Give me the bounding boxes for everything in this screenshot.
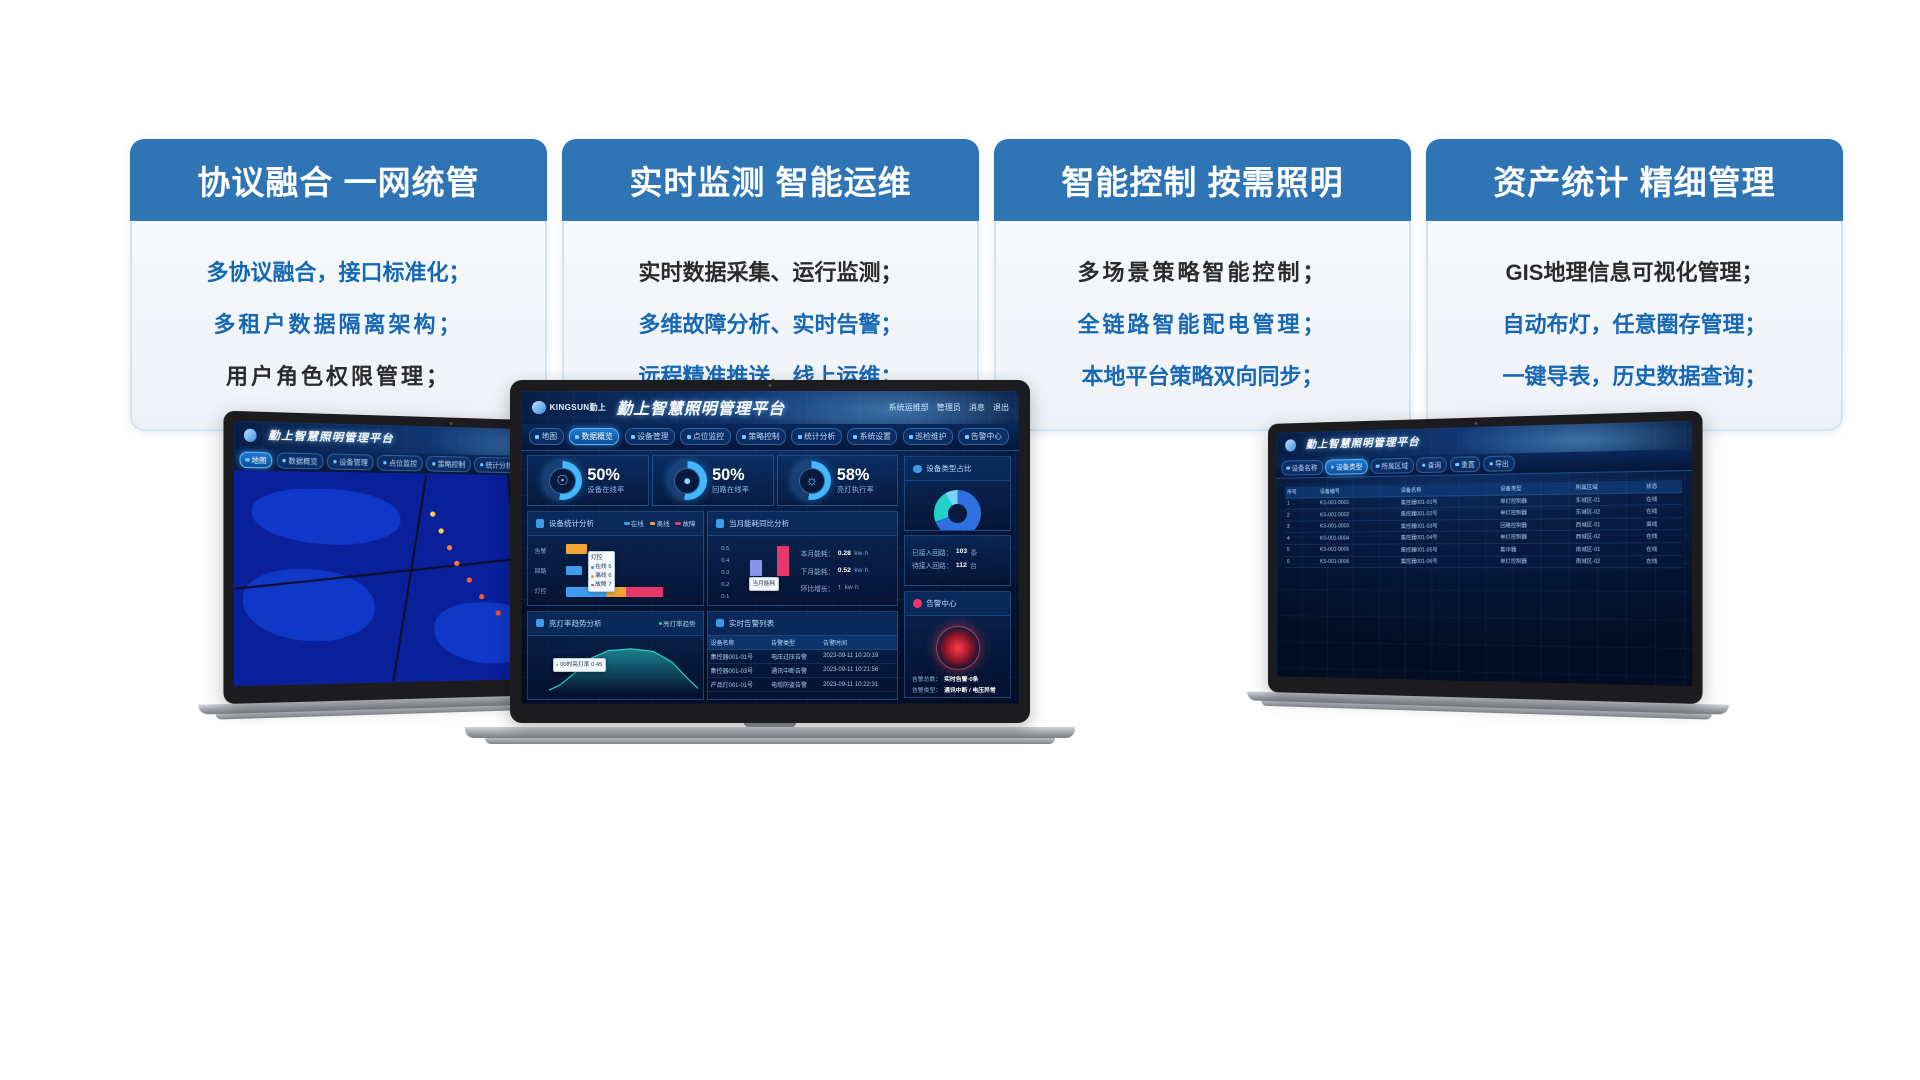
panel-trend-title: 亮灯率趋势分析	[549, 618, 602, 629]
cell: 2023-09-11 10:20:19	[821, 649, 898, 663]
donut-chart	[934, 490, 981, 530]
panel-alarm-center-body: 告警总数： 实时告警·0条 告警类型： 通讯中断 / 电压异常 处理状态：	[905, 616, 1010, 698]
tab-label-3: 点位监控	[693, 431, 724, 442]
chart-icon	[536, 519, 544, 527]
map-road-2	[392, 475, 427, 681]
laptop-right: 勤上智慧照明管理平台 设备名称 设备类型 所属区域 查询 重置 导出	[1268, 411, 1703, 720]
kpi-2-value: 58%	[837, 467, 874, 485]
alarm-value: 待处理	[944, 695, 962, 698]
middle-panels: 设备统计分析 在线 离线 故障	[521, 506, 904, 610]
chart-icon	[575, 435, 579, 439]
kpi-2-text: 58% 亮灯执行率	[837, 467, 874, 495]
kpi-0-value: 50%	[587, 467, 624, 485]
panel-device-stats-header: 设备统计分析 在线 离线 故障	[528, 512, 703, 536]
legend-label: 亮灯率趋势	[663, 618, 696, 628]
asset-nav-5[interactable]: 导出	[1483, 455, 1514, 472]
dashboard-navbar[interactable]: 地图 数据概览 设备管理 点位监控 策略控制 统计分析 系统设置 巡检维护 告警…	[521, 424, 1019, 451]
map-icon	[246, 458, 250, 462]
feature-card-1-title: 协议融合 一网统管	[197, 156, 479, 204]
cell: 产品灯001-01号	[708, 678, 769, 692]
topbar-actions[interactable]: 系统运维部 管理员 消息 退出	[888, 402, 1009, 413]
alarm-value: 实时告警·0条	[944, 674, 978, 683]
brand-logo: 勤上智慧照明管理平台	[244, 429, 257, 442]
energy-value: ↑	[838, 584, 841, 591]
laptop-center-foot	[485, 738, 1055, 744]
tab-label-7: 巡检维护	[915, 431, 946, 442]
asset-dashboard: 勤上智慧照明管理平台 设备名称 设备类型 所属区域 查询 重置 导出	[1277, 421, 1693, 687]
panel-alarm-table-body: 设备名称 告警类型 告警时间 集控器001-01号	[708, 636, 897, 699]
table-row[interactable]: 集控器001-01号 电压过压告警 2023-09-11 10:20:19	[708, 649, 897, 663]
panel-device-stats-legend: 在线 离线 故障	[624, 518, 696, 528]
feature-card-3-header: 智能控制 按需照明	[994, 139, 1411, 221]
kpi-0-text: 50% 设备在线率	[587, 467, 624, 495]
tab-label-8: 告警中心	[971, 431, 1002, 442]
legend-swatch	[650, 522, 656, 525]
gear-icon	[853, 435, 857, 439]
table-row[interactable]: 集控器001-03号 通讯中断告警 2023-09-11 10:21:56	[708, 663, 897, 677]
asset-nav-3[interactable]: 查询	[1417, 457, 1447, 474]
axis-tick: 0.1	[721, 593, 729, 601]
tooltip-label: 在线	[595, 563, 606, 572]
kpi-1-text: 50% 回路在线率	[712, 467, 749, 495]
energy-value: 0.52	[838, 567, 851, 574]
tooltip-row: 离线6	[591, 572, 612, 581]
panel-energy-body: 0.5 0.4 0.3 0.2 0.1	[708, 536, 897, 605]
cell: 电压过压告警	[769, 649, 821, 663]
feature-card-4-line-1: GIS地理信息可视化管理；	[1428, 247, 1841, 299]
energy-stats: 本月能耗： 0.28 kw·h 下月能耗： 0.52 kw·h	[801, 542, 891, 598]
energy-unit: kw·h	[854, 550, 868, 557]
kingsun-logo-icon	[244, 429, 257, 442]
asset-nav-label-2: 所属区域	[1381, 460, 1408, 471]
alarm-row: 告警总数： 实时告警·0条	[912, 674, 1004, 683]
location-icon: ●	[668, 461, 707, 500]
tooltip-row: 在线6	[591, 563, 612, 572]
map-icon	[1287, 466, 1290, 469]
feature-card-1-line-1: 多协议融合，接口标准化；	[132, 247, 545, 299]
panel-device-type: 设备类型占比 单灯 回路 集中器	[904, 456, 1011, 530]
laptop-center-screen: KINGSUN勤上 勤上智慧照明管理平台 系统运维部 管理员 消息 退出 地图	[521, 391, 1019, 704]
gis-nav-map[interactable]: 地图	[239, 451, 273, 469]
cell: 电缆防盗告警	[769, 678, 821, 692]
gis-nav-monitor[interactable]: 点位监控	[377, 454, 423, 472]
bell-icon	[965, 435, 969, 439]
gis-nav-label-5: 统计分析	[486, 460, 513, 471]
area-icon	[1376, 464, 1379, 467]
alarm-table[interactable]: 设备名称 告警类型 告警时间 集控器001-01号	[708, 636, 897, 693]
laptop-right-screen: 勤上智慧照明管理平台 设备名称 设备类型 所属区域 查询 重置 导出	[1277, 421, 1693, 687]
energy-chart: 0.5 0.4 0.3 0.2 0.1	[715, 542, 801, 598]
panel-energy: 当月能耗同比分析 0.5 0.4 0.3 0	[707, 511, 898, 606]
panel-loop-stats-body: 已接入回路： 103 条 待接入回路： 112 台	[905, 536, 1010, 585]
energy-unit: kw·h	[845, 584, 859, 591]
device-icon	[631, 435, 635, 439]
legend-swatch	[624, 522, 630, 525]
kpi-2-label: 亮灯执行率	[837, 485, 874, 495]
panel-alarm-table-header: 实时告警列表	[708, 612, 897, 636]
asset-nav-2[interactable]: 所属区域	[1371, 457, 1414, 474]
energy-row: 下月能耗： 0.52 kw·h	[801, 566, 891, 576]
tooltip-title: 灯控	[591, 554, 612, 563]
webcam-icon	[769, 384, 772, 387]
axis-tick: 告警	[535, 546, 547, 554]
energy-key: 环比增长：	[801, 583, 835, 593]
feature-card-2-header: 实时监测 智能运维	[562, 139, 979, 221]
tooltip-title: 当月能耗	[752, 580, 775, 589]
panel-energy-title: 当月能耗同比分析	[729, 518, 789, 529]
tooltip-label: 故障	[595, 581, 606, 590]
panel-device-stats-title: 设备统计分析	[549, 518, 594, 529]
panel-trend-body: 00时亮灯率0.45	[528, 636, 703, 699]
energy-row: 环比增长： ↑ kw·h	[801, 583, 891, 593]
main-dashboard: KINGSUN勤上 勤上智慧照明管理平台 系统运维部 管理员 消息 退出 地图	[521, 391, 1019, 704]
play-icon	[432, 462, 435, 466]
tooltip-value: 6	[608, 572, 611, 581]
map-pin[interactable]	[438, 528, 443, 533]
legend-label: 故障	[682, 518, 695, 528]
alarm-table-body: 集控器001-01号 电压过压告警 2023-09-11 10:20:19 集控…	[708, 649, 897, 691]
lamp-icon: ☼	[792, 461, 831, 500]
feature-card-1-line-2: 多租户数据隔离架构；	[132, 299, 545, 351]
gis-nav-label-2: 设备管理	[339, 456, 368, 467]
gis-nav-label-0: 地图	[252, 454, 267, 465]
feature-card-2-line-1: 实时数据采集、运行监测；	[564, 247, 977, 299]
horizontal-bar-chart	[535, 542, 697, 598]
dashboard-topbar: KINGSUN勤上 勤上智慧照明管理平台 系统运维部 管理员 消息 退出	[521, 391, 1019, 424]
alarm-key: 处理状态：	[912, 695, 941, 698]
asset-nav-label-3: 查询	[1428, 460, 1442, 471]
wrench-icon	[909, 435, 913, 439]
alarm-key: 告警类型：	[912, 685, 941, 694]
reset-icon	[1456, 463, 1459, 467]
bar	[750, 560, 762, 575]
cell: 2023-09-11 10:21:56	[821, 663, 898, 677]
webcam-icon	[1474, 422, 1477, 425]
bar	[566, 544, 587, 554]
alarm-key: 告警总数：	[912, 674, 941, 683]
asset-nav-0[interactable]: 设备名称	[1281, 459, 1323, 476]
map-icon	[535, 435, 539, 439]
stats-icon	[798, 435, 802, 439]
map-pin[interactable]	[467, 578, 472, 583]
energy-value: 0.28	[838, 550, 851, 557]
kpi-row: ☉ 50% 设备在线率 ● 50%	[521, 451, 904, 507]
search-icon	[1422, 463, 1425, 466]
chart-icon	[283, 459, 287, 463]
tab-settings[interactable]: 系统设置	[847, 428, 897, 445]
cell: 集控器001-01号	[708, 649, 769, 663]
kingsun-logo-icon	[1285, 439, 1296, 451]
tab-stats[interactable]: 统计分析	[791, 428, 841, 445]
legend-label: 在线	[631, 518, 644, 528]
laptop-showcase: 勤上智慧照明管理平台 勤上智慧照明管理平台 地图 数据概览 设备管理 点位监控 …	[0, 380, 1920, 940]
alarm-row: 处理状态： 待处理	[912, 695, 1004, 698]
asset-nav-label-1: 设备类型	[1336, 461, 1362, 472]
kpi-light-exec: ☼ 58% 亮灯执行率	[777, 455, 899, 506]
legend-item: 在线	[624, 518, 644, 528]
panel-device-stats: 设备统计分析 在线 离线 故障	[527, 511, 704, 606]
tooltip-row: 故障7	[591, 581, 612, 590]
panel-device-type-body: 单灯 回路 集中器	[905, 481, 1010, 530]
loop-row: 待接入回路： 112 台	[912, 560, 1004, 570]
tab-strategy[interactable]: 策略控制	[736, 428, 786, 445]
asset-nav-4[interactable]: 重置	[1450, 456, 1481, 473]
kpi-device-online: ☉ 50% 设备在线率	[527, 455, 649, 506]
energy-y-axis: 0.5 0.4 0.3 0.2 0.1	[721, 542, 729, 604]
gis-nav-overview[interactable]: 数据概览	[276, 452, 324, 470]
feature-card-1-header: 协议融合 一网统管	[130, 139, 547, 221]
axis-tick: 0.2	[721, 581, 729, 589]
tooltip-value: 6	[608, 563, 611, 572]
alarm-col-2: 告警时间	[821, 636, 898, 650]
tooltip-label: 00时亮灯率	[560, 661, 589, 670]
map-pin[interactable]	[430, 511, 435, 516]
energy-key: 下月能耗：	[801, 566, 835, 576]
feature-card-4-title: 资产统计 精细管理	[1493, 156, 1775, 204]
panel-alarm-table: 实时告警列表 设备名称 告警类型	[707, 611, 898, 700]
feature-card-2-title: 实时监测 智能运维	[629, 156, 911, 204]
legend-item: 亮灯率趋势	[659, 618, 696, 628]
panel-device-type-title: 设备类型占比	[926, 463, 971, 474]
tooltip-label: 离线	[595, 572, 606, 581]
webcam-icon	[449, 422, 452, 425]
device-icon	[333, 460, 337, 464]
feature-card-3-line-2: 全链路智能配电管理；	[996, 299, 1409, 351]
map-pin[interactable]	[446, 545, 451, 550]
tooltip-value: 7	[608, 581, 611, 590]
laptop-center-lid: KINGSUN勤上 勤上智慧照明管理平台 系统运维部 管理员 消息 退出 地图	[510, 380, 1030, 723]
alarm-radar-icon	[936, 626, 980, 670]
dashboard-left-col: ☉ 50% 设备在线率 ● 50%	[521, 451, 904, 704]
feature-card-2-line-2: 多维故障分析、实时告警；	[564, 299, 977, 351]
panel-alarm-center: 告警中心 告警总数： 实时告警·0条 告警类型：	[904, 591, 1011, 698]
brand-logo	[1285, 439, 1296, 451]
tab-label-2: 设备管理	[637, 431, 668, 442]
monitor-icon	[687, 435, 691, 439]
tab-alarm[interactable]: 告警中心	[958, 428, 1008, 445]
cell: 2023-09-11 10:22:31	[821, 678, 898, 692]
loop-unit: 条	[971, 547, 978, 557]
bar	[777, 546, 789, 575]
tab-label-5: 统计分析	[804, 431, 835, 442]
table-row[interactable]: 产品灯001-01号 电缆防盗告警 2023-09-11 10:22:31	[708, 678, 897, 692]
panel-trend: 亮灯率趋势分析 亮灯率趋势	[527, 611, 704, 700]
legend-label: 离线	[657, 518, 670, 528]
tooltip-value: 0.45	[591, 661, 602, 670]
map-land-1	[252, 488, 400, 545]
panel-alarm-table-title: 实时告警列表	[729, 618, 774, 629]
energy-row: 本月能耗： 0.28 kw·h	[801, 548, 891, 558]
brand-logo: KINGSUN勤上	[532, 401, 606, 415]
kpi-1-value: 50%	[712, 467, 749, 485]
axis-tick: 0.5	[721, 545, 729, 553]
feature-card-3-title: 智能控制 按需照明	[1061, 156, 1343, 204]
bell-icon	[913, 599, 921, 607]
play-icon	[742, 435, 746, 439]
loop-unit: 台	[970, 560, 977, 570]
tab-label-6: 系统设置	[860, 431, 891, 442]
panel-loop-stats: 已接入回路： 103 条 待接入回路： 112 台	[904, 535, 1011, 586]
panel-alarm-center-header: 告警中心	[905, 592, 1010, 616]
platform-title: 勤上智慧照明管理平台	[616, 396, 785, 419]
axis-tick: 0.3	[721, 569, 729, 577]
tab-inspection[interactable]: 巡检维护	[903, 428, 953, 445]
alarm-value: 通讯中断 / 电压异常	[944, 685, 996, 694]
kpi-loop-online: ● 50% 回路在线率	[652, 455, 774, 506]
device-icon	[1331, 465, 1334, 468]
legend-item: 离线	[650, 518, 670, 528]
kpi-1-label: 回路在线率	[712, 485, 749, 495]
message-label[interactable]: 消息	[969, 402, 985, 413]
panel-trend-header: 亮灯率趋势分析 亮灯率趋势	[528, 612, 703, 636]
asset-nav-label-5: 导出	[1495, 458, 1509, 469]
feature-card-3-line-1: 多场景策略智能控制；	[996, 247, 1409, 299]
panel-alarm-center-title: 告警中心	[926, 598, 956, 609]
kpi-0-label: 设备在线率	[587, 485, 624, 495]
user-label[interactable]: 管理员	[937, 402, 961, 413]
panel-energy-header: 当月能耗同比分析	[708, 512, 897, 536]
stats-icon	[480, 463, 483, 466]
tab-label-4: 策略控制	[748, 431, 779, 442]
bar-chart-tooltip: 灯控 在线6 离线6 故障7	[588, 551, 615, 592]
cell: 通讯中断告警	[769, 663, 821, 677]
dept-label[interactable]: 系统运维部	[888, 402, 928, 413]
asset-platform-title: 勤上智慧照明管理平台	[1306, 434, 1420, 452]
alarm-col-1: 告警类型	[769, 636, 821, 650]
loop-row: 已接入回路： 103 条	[912, 547, 1004, 557]
asset-nav-label-4: 重置	[1461, 459, 1475, 470]
gis-nav-label-4: 策略控制	[438, 459, 466, 470]
export-icon	[1489, 462, 1492, 466]
dashboard-right-col: 设备类型占比 单灯 回路 集中器	[904, 451, 1019, 704]
tab-device[interactable]: 设备管理	[625, 428, 675, 445]
gis-nav-strategy[interactable]: 策略控制	[426, 455, 471, 472]
monitor-icon	[383, 461, 387, 465]
feature-card-4-header: 资产统计 精细管理	[1426, 139, 1843, 221]
dashboard-body: ☉ 50% 设备在线率 ● 50%	[521, 451, 1019, 704]
panel-trend-legend: 亮灯率趋势	[659, 618, 696, 628]
gis-nav-device[interactable]: 设备管理	[327, 453, 374, 471]
asset-nav-1[interactable]: 设备类型	[1325, 458, 1367, 475]
map-pin[interactable]	[479, 594, 484, 599]
panel-device-stats-body: 告警 回路 灯控	[528, 536, 703, 605]
map-pin[interactable]	[496, 610, 501, 615]
alarm-row: 告警类型： 通讯中断 / 电压异常	[912, 685, 1004, 694]
loop-key: 待接入回路：	[912, 560, 953, 570]
chart-icon	[716, 519, 724, 527]
asset-nav-label-0: 设备名称	[1292, 462, 1318, 473]
legend-swatch	[659, 622, 662, 625]
loop-value: 103	[956, 548, 967, 555]
kingsun-logo-icon	[532, 401, 546, 415]
tab-map[interactable]: 地图	[529, 428, 564, 445]
laptop-center: KINGSUN勤上 勤上智慧照明管理平台 系统运维部 管理员 消息 退出 地图	[510, 380, 1030, 744]
alarm-col-0: 设备名称	[708, 636, 769, 650]
gis-nav-label-3: 点位监控	[389, 457, 417, 468]
cell: 集控器001-03号	[708, 663, 769, 677]
bar	[566, 566, 582, 576]
pie-icon	[913, 465, 921, 473]
gis-platform-title: 勤上智慧照明管理平台	[268, 427, 394, 446]
bulb-icon: ☉	[543, 461, 582, 500]
energy-unit: kw·h	[854, 567, 868, 574]
bar-chart-y-axis: 告警 回路 灯控	[535, 536, 547, 605]
trend-tooltip: 00时亮灯率0.45	[553, 658, 606, 672]
chart-icon	[536, 619, 544, 627]
logout-label[interactable]: 退出	[993, 402, 1009, 413]
axis-tick: 回路	[535, 566, 547, 574]
alarm-table-header-row: 设备名称 告警类型 告警时间	[708, 636, 897, 650]
brand-name: KINGSUN勤上	[550, 402, 607, 413]
bell-icon	[716, 619, 724, 627]
panel-device-type-header: 设备类型占比	[905, 457, 1010, 481]
energy-tooltip: 当月能耗	[749, 577, 778, 591]
bottom-panels: 亮灯率趋势分析 亮灯率趋势	[521, 611, 904, 704]
tab-overview[interactable]: 数据概览	[569, 428, 619, 445]
tab-label-1: 数据概览	[582, 431, 613, 442]
axis-tick: 0.4	[721, 557, 729, 565]
tab-monitor[interactable]: 点位监控	[680, 428, 730, 445]
legend-item: 故障	[675, 518, 695, 528]
axis-tick: 灯控	[535, 586, 547, 594]
feature-card-4-line-2: 自动布灯，任意圈存管理；	[1428, 299, 1841, 351]
loop-value: 112	[956, 562, 967, 569]
laptop-center-base	[465, 727, 1075, 738]
loop-key: 已接入回路：	[912, 547, 953, 557]
tab-label-0: 地图	[542, 431, 558, 442]
laptop-right-lid: 勤上智慧照明管理平台 设备名称 设备类型 所属区域 查询 重置 导出	[1268, 411, 1703, 704]
legend-swatch	[675, 522, 681, 525]
tooltip-row: 00时亮灯率0.45	[556, 661, 602, 670]
gis-nav-label-1: 数据概览	[288, 455, 317, 466]
energy-key: 本月能耗：	[801, 548, 835, 558]
